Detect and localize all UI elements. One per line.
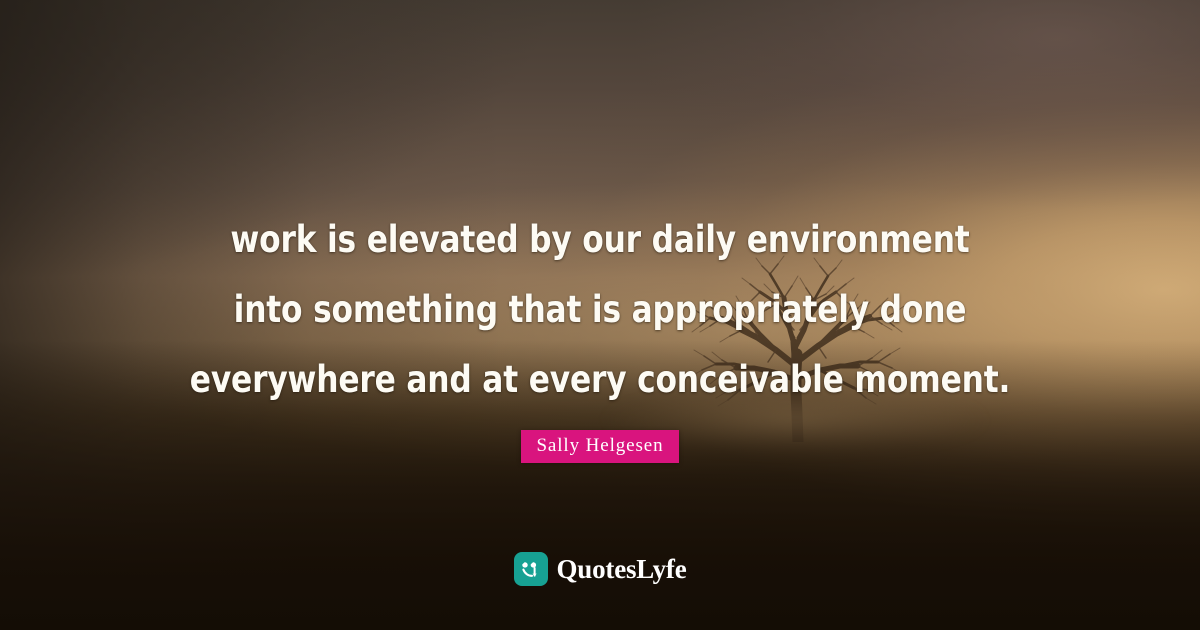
- quote-line-3: everywhere and at every conceivable mome…: [36, 345, 1164, 415]
- quote-line-1: work is elevated by our daily environmen…: [36, 205, 1164, 275]
- quote-line-2: into something that is appropriately don…: [36, 275, 1164, 345]
- quote-card: work is elevated by our daily environmen…: [0, 0, 1200, 630]
- brand-wordmark: QuotesLyfe: [557, 554, 687, 585]
- quote-text: work is elevated by our daily environmen…: [0, 205, 1200, 415]
- brand-logo[interactable]: QuotesLyfe: [0, 552, 1200, 586]
- author-row: Sally Helgesen: [0, 430, 1200, 463]
- author-name-badge[interactable]: Sally Helgesen: [521, 430, 678, 463]
- quote-smiley-icon: [514, 552, 548, 586]
